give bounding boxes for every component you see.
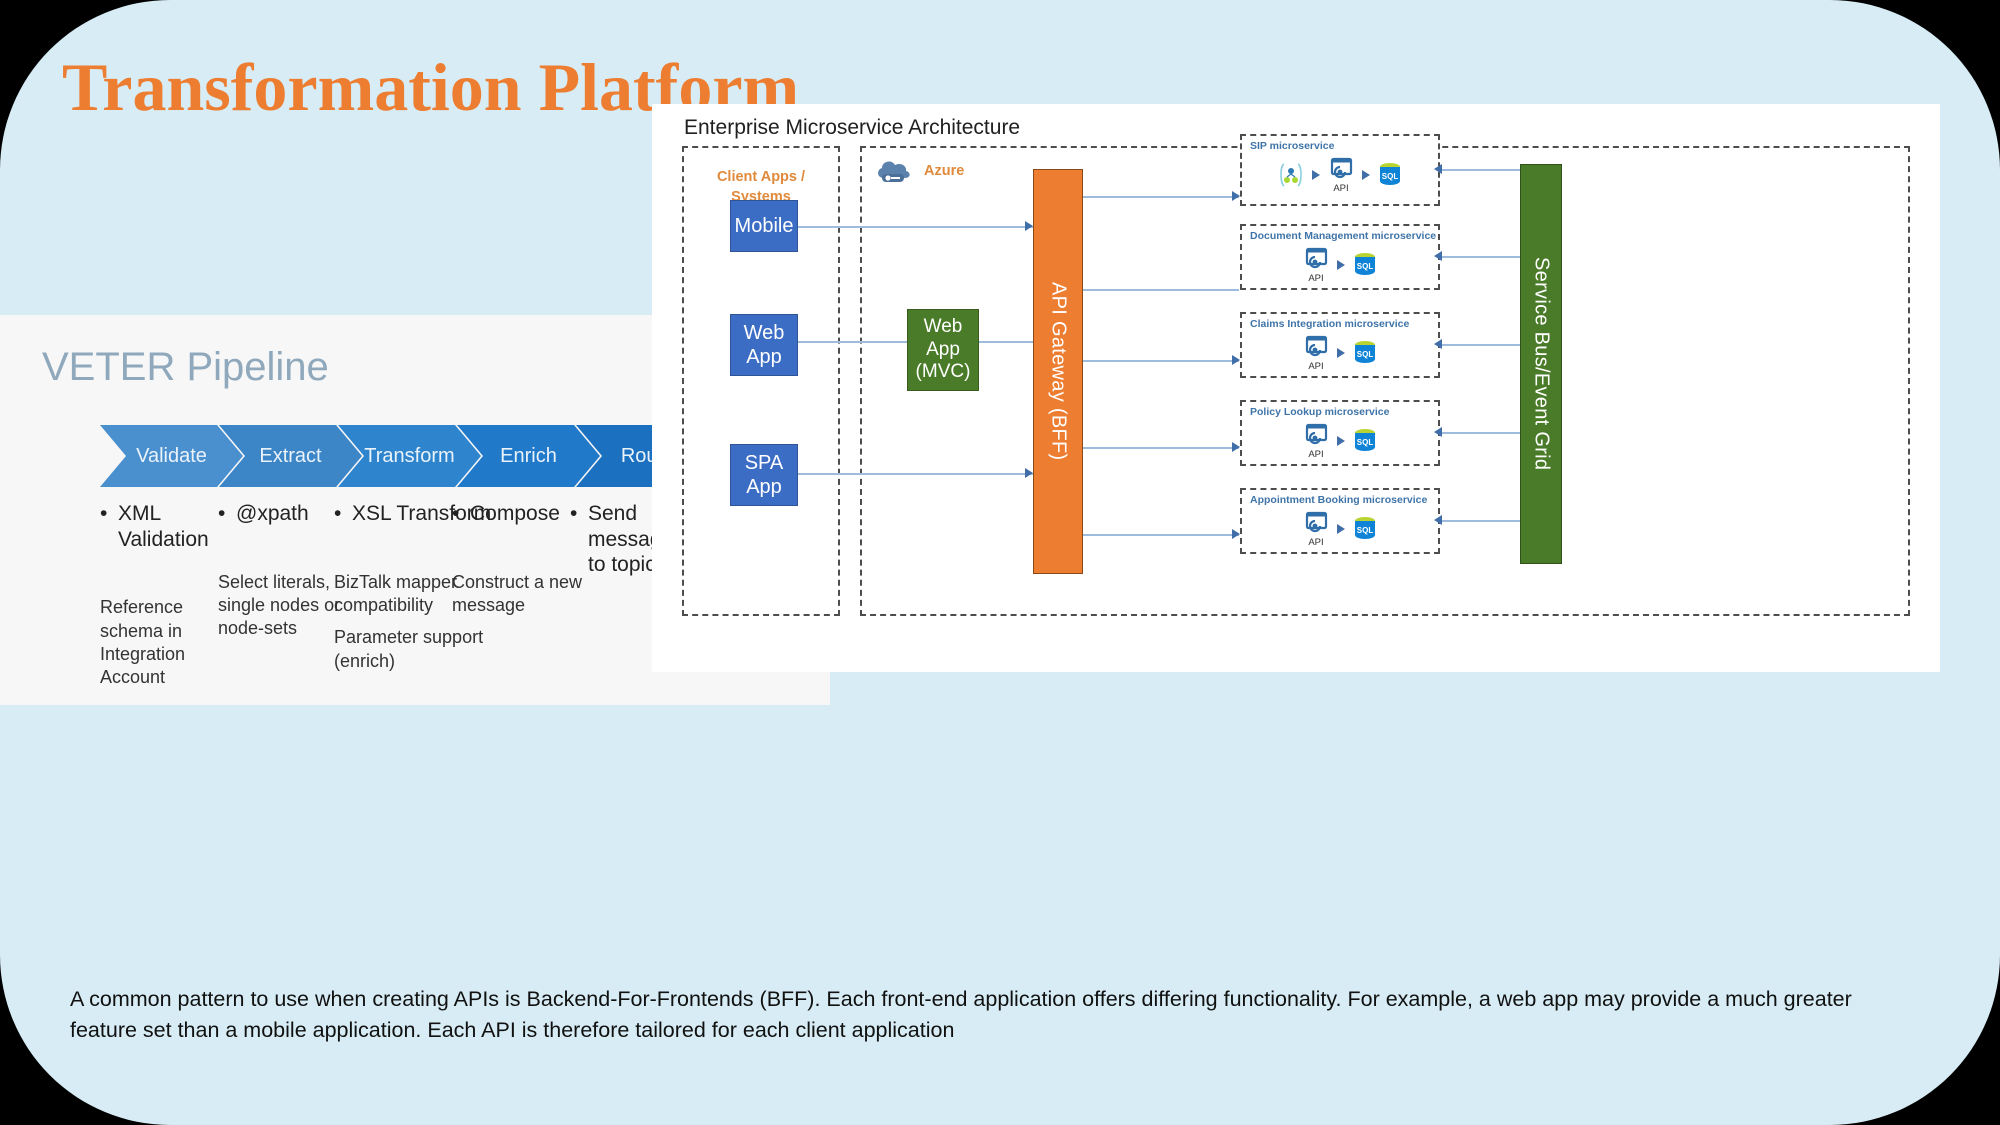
veter-title: VETER Pipeline — [42, 345, 329, 390]
connector-gateway-ms-2 — [1083, 289, 1239, 291]
microservice-box-appointment-booking: Appointment Booking microservice API SQL — [1240, 488, 1440, 554]
microservice-box-sip: SIP microservice — [1240, 134, 1440, 206]
api-caption: API — [1308, 273, 1323, 284]
node-web-app-mvc[interactable]: Web App (MVC) — [907, 309, 979, 391]
microservice-label: Claims Integration microservice — [1250, 318, 1409, 330]
arrowhead-icon — [1434, 251, 1442, 261]
slide-canvas: Transformation Platform VETER Pipeline V… — [0, 0, 2000, 1125]
arrowhead-icon — [1232, 529, 1240, 539]
arrowhead-icon — [1362, 170, 1370, 180]
sql-database-icon: SQL — [1352, 427, 1378, 455]
arrowhead-icon — [1232, 355, 1240, 365]
microservice-icons: API SQL — [1242, 510, 1438, 548]
connector-mobile-gateway — [791, 226, 1033, 228]
bullet-icon: • — [452, 501, 470, 527]
microservice-icons: API SQL — [1242, 334, 1438, 372]
arrowhead-icon — [1434, 164, 1442, 174]
connector-gateway-ms-4 — [1083, 447, 1239, 449]
arrowhead-icon — [1434, 339, 1442, 349]
azure-zone-label: Azure — [924, 162, 1004, 182]
bullet-icon: • — [100, 501, 118, 552]
bullet-icon: • — [334, 501, 352, 527]
connector-gateway-ms-1 — [1083, 196, 1239, 198]
api-caption: API — [1308, 361, 1323, 372]
slide-caption: A common pattern to use when creating AP… — [70, 984, 1910, 1045]
service-bus-bar[interactable]: Service Bus/Event Grid — [1520, 164, 1562, 564]
arrowhead-icon — [1337, 260, 1345, 270]
node-web-app-mvc-label-line1: Web — [924, 316, 963, 339]
architecture-diagram: Enterprise Microservice Architecture Cli… — [652, 104, 1940, 672]
architecture-title: Enterprise Microservice Architecture — [684, 116, 1020, 140]
api-icon-wrap: API — [1302, 334, 1330, 372]
schema-icon — [1277, 162, 1305, 188]
api-icon-wrap: API — [1302, 422, 1330, 460]
node-web-app-label-line2: App — [746, 345, 782, 369]
arrowhead-icon — [1434, 427, 1442, 437]
api-caption: API — [1308, 537, 1323, 548]
api-icon — [1327, 156, 1355, 182]
veter-stage-label: Transform — [364, 445, 454, 468]
arrowhead-icon — [1337, 524, 1345, 534]
veter-stage-label: Enrich — [500, 445, 557, 468]
bullet-icon: • — [570, 501, 588, 578]
sql-database-icon: SQL — [1377, 161, 1403, 189]
arrowhead-icon — [1434, 515, 1442, 525]
arrowhead-icon — [1337, 348, 1345, 358]
node-mobile-label: Mobile — [735, 214, 794, 238]
api-icon — [1302, 422, 1330, 448]
api-caption: API — [1308, 449, 1323, 460]
connector-ms3-bus — [1440, 344, 1520, 346]
node-spa-app-label-line2: App — [746, 475, 782, 499]
node-web-app-mvc-label-line2: App — [926, 339, 960, 362]
connector-mvc-gateway — [979, 341, 1033, 343]
service-bus-label: Service Bus/Event Grid — [1530, 257, 1553, 470]
arrowhead-icon — [1232, 442, 1240, 452]
connector-gateway-ms-5 — [1083, 534, 1239, 536]
arrowhead-icon — [1025, 468, 1033, 478]
arrowhead-icon — [1337, 436, 1345, 446]
microservice-label: Appointment Booking microservice — [1250, 494, 1427, 506]
api-icon — [1302, 510, 1330, 536]
svg-text:SQL: SQL — [1357, 526, 1374, 535]
sql-database-icon: SQL — [1352, 339, 1378, 367]
connector-ms5-bus — [1440, 520, 1520, 522]
microservice-icons: API SQL — [1242, 422, 1438, 460]
sql-database-icon: SQL — [1352, 515, 1378, 543]
arrowhead-icon — [1312, 170, 1320, 180]
node-spa-app[interactable]: SPA App — [730, 444, 798, 506]
microservice-icons: API SQL — [1242, 246, 1438, 284]
node-spa-app-label-line1: SPA — [745, 451, 784, 475]
microservice-icons: API SQL — [1242, 156, 1438, 194]
microservice-label: Policy Lookup microservice — [1250, 406, 1389, 418]
sql-database-icon: SQL — [1352, 251, 1378, 279]
client-apps-zone-label-line1: Client Apps / — [717, 169, 805, 185]
veter-stage-label: Extract — [259, 445, 321, 468]
microservice-box-claims-integration: Claims Integration microservice API SQL — [1240, 312, 1440, 378]
arrowhead-icon — [1232, 191, 1240, 201]
svg-text:SQL: SQL — [1382, 172, 1399, 181]
api-gateway-label: API Gateway (BFF) — [1047, 282, 1070, 460]
svg-text:SQL: SQL — [1357, 438, 1374, 447]
arrowhead-icon — [1025, 221, 1033, 231]
microservice-box-document-management: Document Management microservice API SQL — [1240, 224, 1440, 290]
api-icon — [1302, 246, 1330, 272]
svg-text:SQL: SQL — [1357, 350, 1374, 359]
connector-gateway-ms-3 — [1083, 360, 1239, 362]
node-web-app-label-line1: Web — [744, 321, 785, 345]
api-icon-wrap: API — [1302, 246, 1330, 284]
api-icon — [1302, 334, 1330, 360]
microservice-label: SIP microservice — [1250, 140, 1334, 152]
svg-text:SQL: SQL — [1357, 262, 1374, 271]
api-gateway-bar[interactable]: API Gateway (BFF) — [1033, 169, 1083, 574]
api-icon-wrap: API — [1327, 156, 1355, 194]
microservice-box-policy-lookup: Policy Lookup microservice API SQL — [1240, 400, 1440, 466]
veter-stage-validate: Validate — [100, 425, 243, 487]
api-caption: API — [1333, 183, 1348, 194]
node-web-app[interactable]: Web App — [730, 314, 798, 376]
connector-ms2-bus — [1440, 256, 1520, 258]
azure-cloud-icon — [874, 158, 914, 184]
veter-stage-label: Validate — [136, 445, 207, 468]
connector-ms4-bus — [1440, 432, 1520, 434]
veter-description: Parameter support (enrich) — [334, 626, 494, 673]
connector-spa-gateway — [791, 473, 1033, 475]
microservice-label: Document Management microservice — [1250, 230, 1436, 242]
api-icon-wrap: API — [1302, 510, 1330, 548]
node-mobile[interactable]: Mobile — [730, 200, 798, 252]
node-web-app-mvc-label-line3: (MVC) — [916, 361, 971, 384]
connector-ms1-bus — [1440, 169, 1520, 171]
bullet-icon: • — [218, 501, 236, 527]
